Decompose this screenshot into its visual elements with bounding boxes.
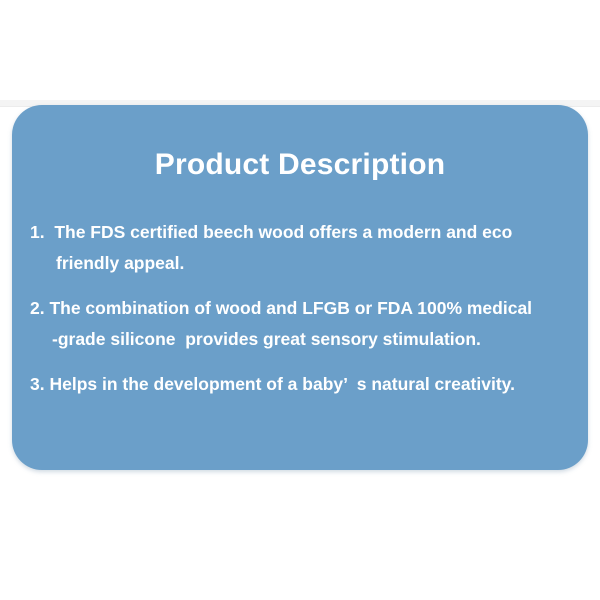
page-title: Product Description (12, 150, 588, 180)
list-item: 3. Helps in the development of a baby’ s… (30, 369, 578, 400)
list-item-line: -grade silicone provides great sensory s… (30, 324, 578, 355)
feature-list: 1. The FDS certified beech wood offers a… (30, 217, 578, 400)
list-item-line: 2. The combination of wood and LFGB or F… (30, 293, 578, 324)
product-description-card: Product Description 1. The FDS certified… (12, 105, 588, 470)
list-item: 1. The FDS certified beech wood offers a… (30, 217, 578, 279)
list-item-line: 1. The FDS certified beech wood offers a… (30, 217, 578, 248)
list-item-line: friendly appeal. (30, 248, 578, 279)
list-item-line: 3. Helps in the development of a baby’ s… (30, 369, 578, 400)
list-item: 2. The combination of wood and LFGB or F… (30, 293, 578, 355)
